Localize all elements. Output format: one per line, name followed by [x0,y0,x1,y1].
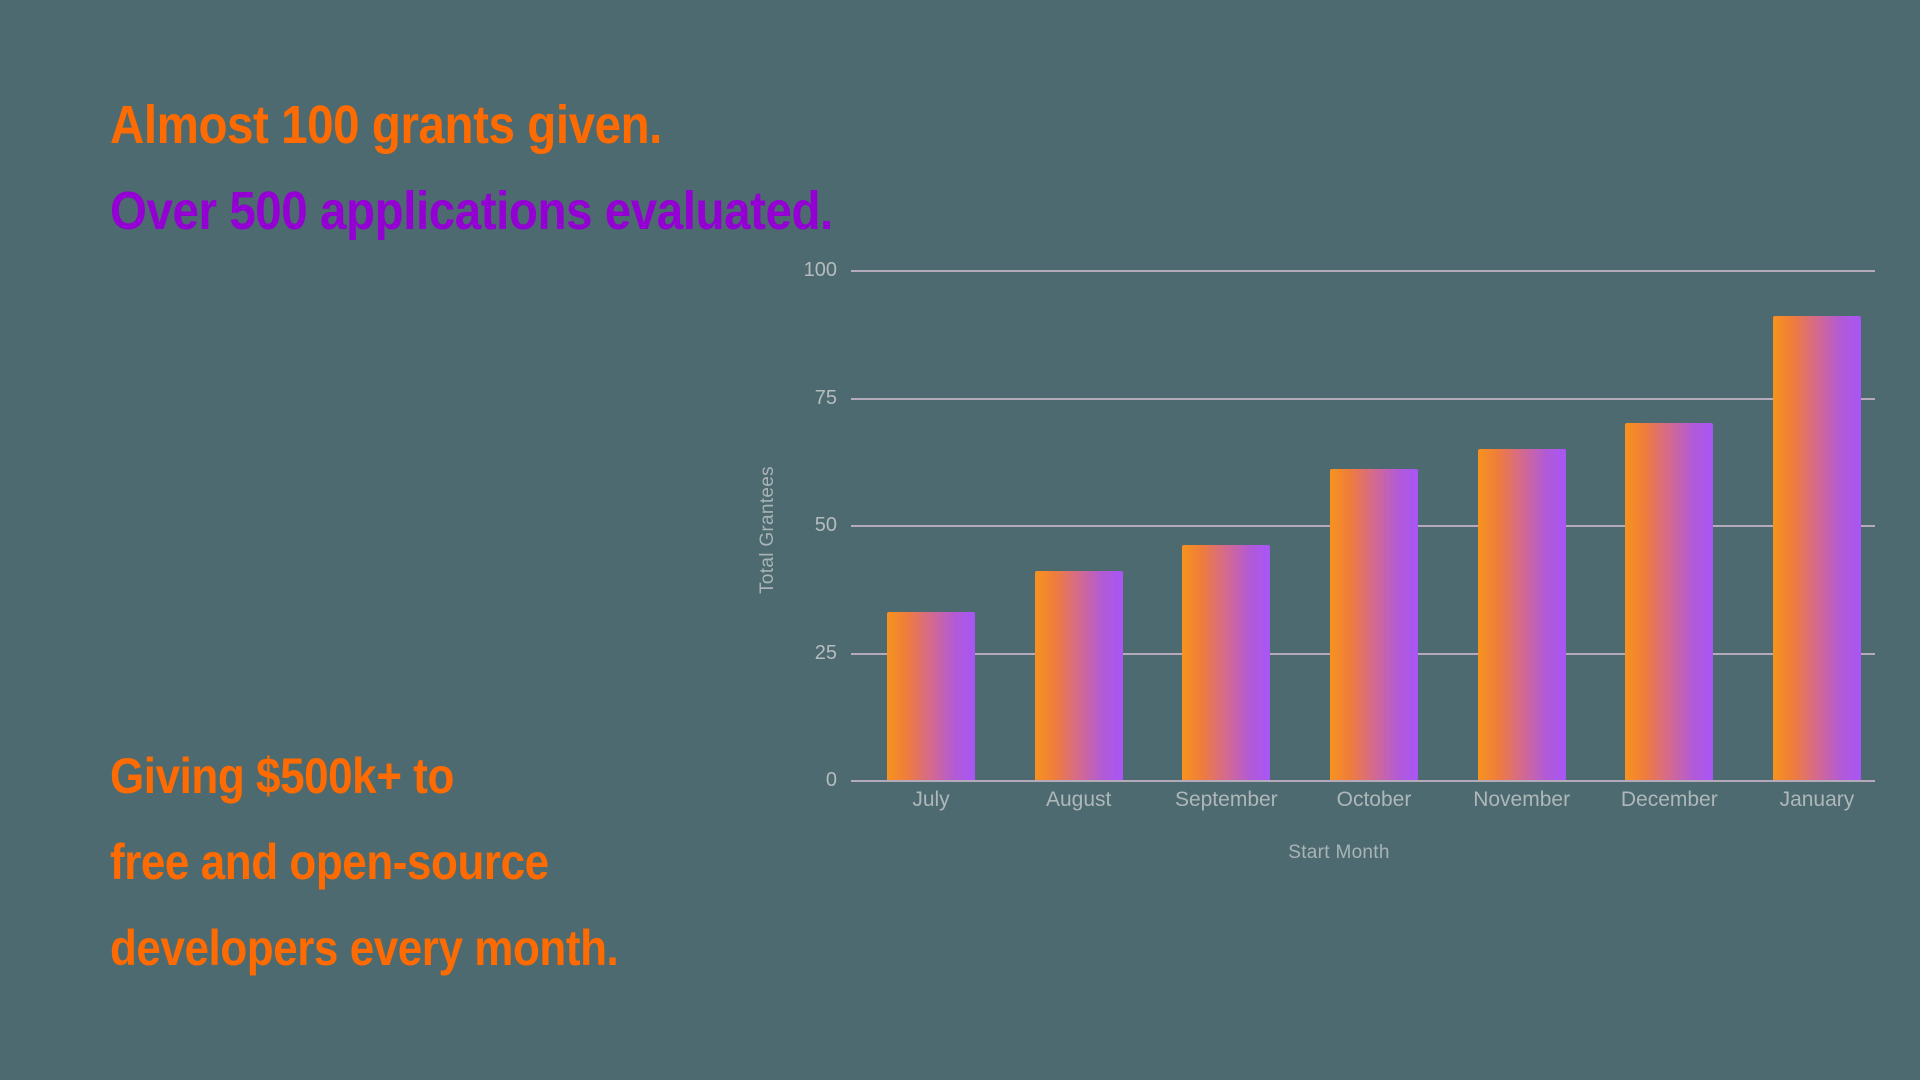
x-tick-label: November [1473,788,1570,812]
y-tick-label: 0 [793,767,837,793]
chart-plot-area: 0255075100 JulyAugustSeptemberOctoberNov… [793,270,1875,780]
bar[interactable] [887,612,975,780]
bar[interactable] [1182,545,1270,780]
x-axis-title: Start Month [803,842,1875,864]
x-tick-label: July [912,788,949,812]
x-tick-label: January [1780,788,1855,812]
bar[interactable] [1330,469,1418,780]
bar[interactable] [1625,423,1713,780]
y-tick-label: 50 [793,512,837,538]
y-axis-title-label: Total Grantees [757,466,779,594]
headline-line-applications: Over 500 applications evaluated. [110,168,867,254]
bar-slot[interactable]: September [1182,270,1270,780]
bar-slot[interactable]: August [1035,270,1123,780]
bar-slot[interactable]: January [1773,270,1861,780]
statement-line-2: free and open-source [110,819,779,905]
bar[interactable] [1478,449,1566,781]
x-tick-label: December [1621,788,1718,812]
bar-slot[interactable]: July [887,270,975,780]
x-tick-label: September [1175,788,1278,812]
bar[interactable] [1773,316,1861,780]
statement-line-1: Giving $500k+ to [110,733,779,819]
statement-line-3: developers every month. [110,905,779,991]
bar-slot[interactable]: October [1330,270,1418,780]
x-tick-label: August [1046,788,1111,812]
y-tick-label: 25 [793,640,837,666]
headline-block: Almost 100 grants given. Over 500 applic… [110,82,970,254]
y-tick-label: 100 [793,257,837,283]
grantees-bar-chart: Total Grantees 0255075100 JulyAugustSept… [745,270,1875,1060]
bar-slot[interactable]: November [1478,270,1566,780]
y-tick-label: 75 [793,385,837,411]
y-axis-title: Total Grantees [755,270,781,790]
bar[interactable] [1035,571,1123,780]
gridline [851,780,1875,782]
headline-line-grants: Almost 100 grants given. [110,82,867,168]
x-tick-label: October [1337,788,1412,812]
bar-slot[interactable]: December [1625,270,1713,780]
bars-group: JulyAugustSeptemberOctoberNovemberDecemb… [851,270,1875,780]
